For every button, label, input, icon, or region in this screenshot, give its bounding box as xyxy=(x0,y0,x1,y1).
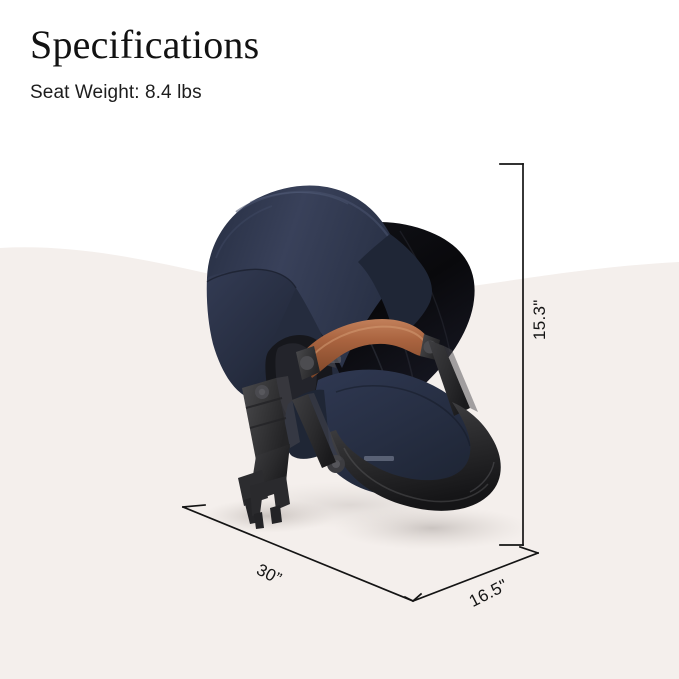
dimension-overlay xyxy=(0,0,679,679)
dim-line-width xyxy=(183,507,413,601)
dim-tick-depth-end xyxy=(520,547,538,553)
dim-line-depth xyxy=(413,553,538,601)
specifications-page: Specifications Seat Weight: 8.4 lbs xyxy=(0,0,679,679)
dim-notch-center xyxy=(405,594,421,601)
dim-tick-width-start xyxy=(183,505,205,507)
